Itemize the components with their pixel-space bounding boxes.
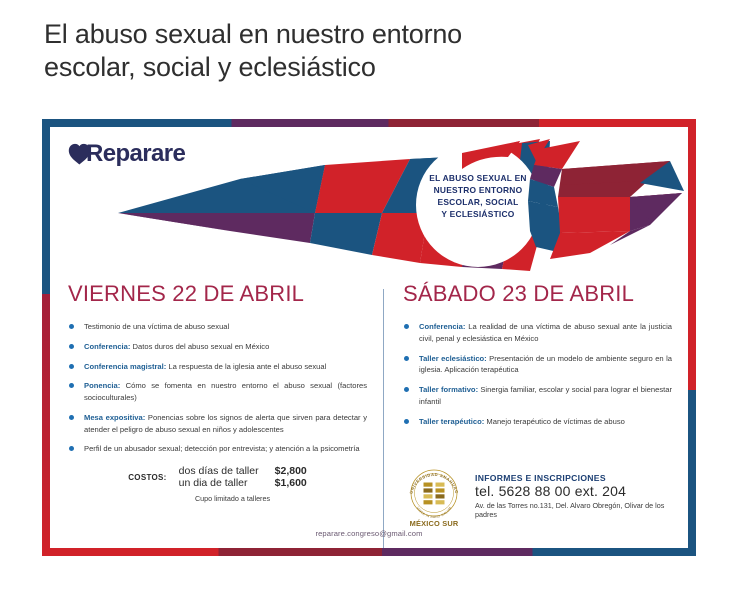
list-item-text: Datos duros del abuso sexual en México (130, 342, 269, 351)
costos-label: COSTOS: (128, 473, 166, 482)
list-item-lead: Taller formativo: (419, 385, 478, 394)
saturday-item-list: Conferencia: La realidad de una víctima … (403, 321, 672, 427)
circle-title-line-4: Y ECLESIÁSTICO (413, 209, 543, 221)
program-columns: VIERNES 22 DE ABRIL Testimonio de una ví… (50, 279, 688, 548)
bullet-dot-icon (404, 324, 409, 329)
heart-icon (68, 143, 91, 165)
bullet-dot-icon (69, 324, 74, 329)
poster-frame-bottom (42, 548, 696, 556)
friday-heading: VIERNES 22 DE ABRIL (68, 281, 367, 307)
list-item: Ponencia: Cómo se fomenta en nuestro ent… (68, 380, 367, 404)
costos-row: dos días de taller$2,800 (179, 465, 307, 477)
column-friday: VIERNES 22 DE ABRIL Testimonio de una ví… (50, 279, 385, 548)
list-item-text: Perfil de un abusador sexual; detección … (84, 444, 360, 453)
poster-body: Reparare (50, 127, 688, 548)
list-item-text: Cómo se fomenta en nuestro entorno el ab… (84, 381, 367, 402)
contact-phone: tel. 5628 88 00 ext. 204 (475, 483, 688, 501)
hero-graphic: EL ABUSO SEXUAL EN NUESTRO ENTORNO ESCOL… (110, 135, 688, 280)
bullet-dot-icon (69, 415, 74, 420)
list-item-text: Testimonio de una víctima de abuso sexua… (84, 322, 229, 331)
bullet-dot-icon (69, 344, 74, 349)
list-item-lead: Conferencia magistral: (84, 362, 166, 371)
costos-block: COSTOS: dos días de taller$2,800un dia d… (68, 465, 367, 503)
list-item-lead: Taller terapéutico: (419, 417, 484, 426)
bullet-dot-icon (69, 383, 74, 388)
costos-note: Cupo limitado a talleres (68, 494, 367, 503)
list-item: Taller eclesiástico: Presentación de un … (403, 353, 672, 377)
contact-heading: INFORMES E INSCRIPCIONES (475, 473, 688, 483)
contact-block: UNIVERSIDAD ANÁHUAC VINCE IN BONO MALUM (403, 465, 688, 527)
friday-item-list: Testimonio de una víctima de abuso sexua… (68, 321, 367, 455)
list-item-text: Manejo terapéutico de víctimas de abuso (484, 417, 625, 426)
list-item-lead: Conferencia: (84, 342, 130, 351)
list-item: Mesa expositiva: Ponencias sobre los sig… (68, 412, 367, 436)
event-poster: Reparare (42, 119, 696, 556)
costos-row-amount: $2,800 (275, 465, 307, 477)
poster-frame-right (688, 119, 696, 556)
page-title-line-2: escolar, social y eclesiástico (44, 51, 684, 84)
costos-row-amount: $1,600 (275, 477, 307, 489)
bullet-dot-icon (404, 419, 409, 424)
list-item-lead: Mesa expositiva: (84, 413, 145, 422)
list-item: Testimonio de una víctima de abuso sexua… (68, 321, 367, 333)
page-title-line-1: El abuso sexual en nuestro entorno (44, 18, 684, 51)
list-item: Perfil de un abusador sexual; detección … (68, 443, 367, 455)
seal-caption: MÉXICO SUR (403, 519, 465, 528)
saturday-heading: SÁBADO 23 DE ABRIL (403, 281, 672, 307)
bullet-dot-icon (404, 387, 409, 392)
list-item: Taller formativo: Sinergia familiar, esc… (403, 384, 672, 408)
hero-lens-shape (110, 135, 688, 280)
bullet-dot-icon (69, 446, 74, 451)
contact-text: INFORMES E INSCRIPCIONES tel. 5628 88 00… (475, 473, 688, 520)
circle-title: EL ABUSO SEXUAL EN NUESTRO ENTORNO ESCOL… (413, 173, 543, 221)
circle-title-line-1: EL ABUSO SEXUAL EN (413, 173, 543, 185)
column-saturday: SÁBADO 23 DE ABRIL Conferencia: La reali… (385, 279, 688, 548)
anahuac-seal-icon: UNIVERSIDAD ANÁHUAC VINCE IN BONO MALUM (403, 465, 465, 527)
costos-rows: dos días de taller$2,800un dia de taller… (179, 465, 307, 489)
contact-email[interactable]: reparare.congreso@gmail.com (50, 529, 688, 538)
list-item-lead: Ponencia: (84, 381, 120, 390)
list-item: Taller terapéutico: Manejo terapéutico d… (403, 416, 672, 428)
page-title: El abuso sexual en nuestro entorno escol… (44, 18, 684, 84)
costos-row: un dia de taller$1,600 (179, 477, 307, 489)
costos-row-text: dos días de taller (179, 465, 275, 477)
poster-frame-top (42, 119, 696, 127)
list-item-lead: Conferencia: (419, 322, 465, 331)
list-item: Conferencia: Datos duros del abuso sexua… (68, 341, 367, 353)
bullet-dot-icon (404, 356, 409, 361)
circle-title-line-3: ESCOLAR, SOCIAL (413, 197, 543, 209)
list-item: Conferencia: La realidad de una víctima … (403, 321, 672, 345)
contact-address: Av. de las Torres no.131, Del. Alvaro Ob… (475, 501, 688, 519)
poster-frame-left (42, 119, 50, 556)
list-item-lead: Taller eclesiástico: (419, 354, 487, 363)
costos-row-text: un dia de taller (179, 477, 275, 489)
list-item-text: La respuesta de la iglesia ante el abuso… (166, 362, 326, 371)
list-item: Conferencia magistral: La respuesta de l… (68, 361, 367, 373)
bullet-dot-icon (69, 364, 74, 369)
circle-title-line-2: NUESTRO ENTORNO (413, 185, 543, 197)
